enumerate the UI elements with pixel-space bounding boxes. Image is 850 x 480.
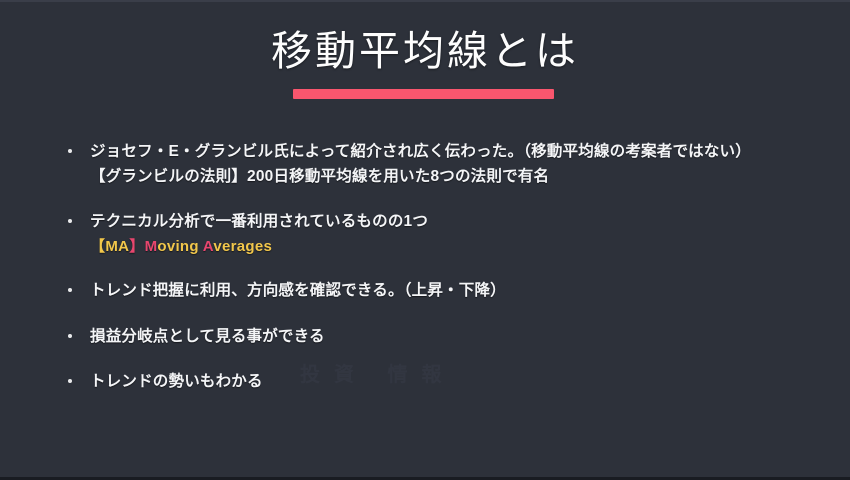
bullet-dot-icon (68, 149, 72, 153)
bullet-5-line-1: トレンドの勢いもわかる (90, 370, 824, 394)
list-item: テクニカル分析で一番利用されているものの1つ 【MA】Moving Averag… (64, 210, 824, 258)
bullet-dot-icon (68, 219, 72, 223)
ma-bracket-open: 【 (90, 238, 105, 255)
ma-moving-initial: M (145, 238, 158, 255)
bullet-dot-icon (68, 379, 72, 383)
bullet-list: ジョセフ・E・グランビル氏によって紹介され広く伝わった。（移動平均線の考案者では… (64, 140, 824, 394)
list-item: トレンドの勢いもわかる (64, 370, 824, 394)
ma-label: MA (105, 238, 129, 255)
bullet-1-line-1: ジョセフ・E・グランビル氏によって紹介され広く伝わった。（移動平均線の考案者では… (90, 140, 824, 164)
bullet-2-line-1: テクニカル分析で一番利用されているものの1つ (90, 210, 824, 234)
ma-averages-rest: verages (213, 238, 272, 255)
ma-averages-initial: A (203, 238, 214, 255)
presentation-slide: 移動平均線とは ジョセフ・E・グランビル氏によって紹介され広く伝わった。（移動平… (0, 0, 850, 480)
list-item: トレンド把握に利用、方向感を確認できる。（上昇・下降） (64, 279, 824, 303)
bullet-dot-icon (68, 288, 72, 292)
bullet-2-ma-caption: 【MA】Moving Averages (90, 236, 824, 259)
page-title: 移動平均線とは (0, 26, 850, 77)
slide-top-edge (0, 0, 850, 2)
bullet-4-line-1: 損益分岐点として見る事ができる (90, 325, 824, 349)
list-item: 損益分岐点として見る事ができる (64, 325, 824, 349)
ma-moving-rest: oving (157, 238, 199, 255)
bullet-1-line-2: 【グランビルの法則】200日移動平均線を用いた8つの法則で有名 (90, 165, 824, 189)
title-block: 移動平均線とは (0, 26, 850, 77)
bullet-3-line-1: トレンド把握に利用、方向感を確認できる。（上昇・下降） (90, 279, 824, 303)
bullet-dot-icon (68, 334, 72, 338)
title-underline-rule (293, 89, 554, 99)
list-item: ジョセフ・E・グランビル氏によって紹介され広く伝わった。（移動平均線の考案者では… (64, 140, 824, 188)
ma-bracket-close: 】 (129, 238, 144, 255)
